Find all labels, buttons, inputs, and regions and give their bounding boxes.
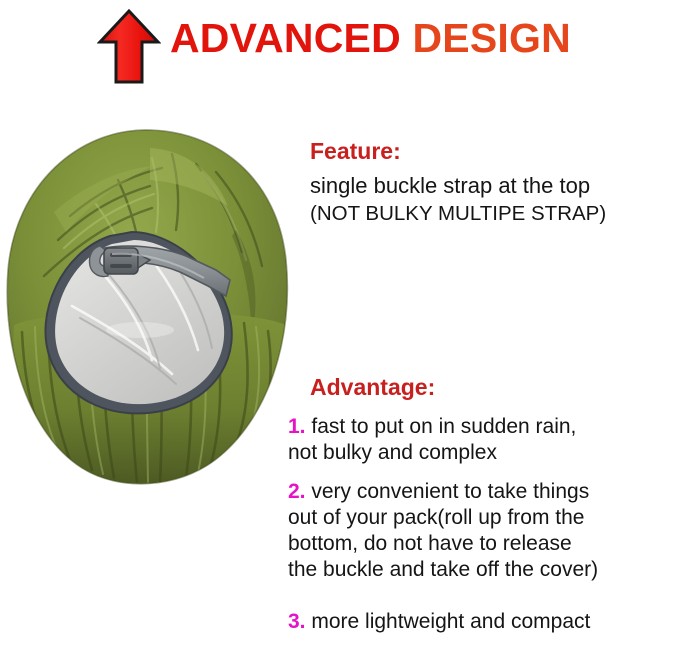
advantage-item-line: bottom, do not have to release	[288, 532, 572, 555]
up-arrow-icon	[97, 9, 161, 85]
advantage-item-line: fast to put on in sudden rain,	[311, 415, 576, 438]
advantage-item-line: out of your pack(roll up from the	[288, 506, 584, 529]
advantage-section: Advantage: 1. fast to put on in sudden r…	[288, 373, 679, 635]
page-title-part-1: ADVANCED	[170, 15, 401, 61]
advantage-list-item: 1. fast to put on in sudden rain, not bu…	[288, 414, 679, 466]
advantage-item-number: 2.	[288, 480, 306, 503]
feature-line-2: (NOT BULKY MULTIPE STRAP)	[310, 200, 679, 227]
advantage-list-item: 3. more lightweight and compact	[288, 609, 679, 635]
advantage-item-line: more lightweight and compact	[311, 610, 590, 633]
feature-heading: Feature:	[310, 137, 679, 166]
advantage-list-item: 2. very convenient to take things out of…	[288, 479, 679, 583]
page-title-part-2: DESIGN	[401, 15, 571, 61]
advantage-item-line: very convenient to take things	[311, 480, 589, 503]
feature-body: single buckle strap at the top (NOT BULK…	[310, 171, 679, 227]
product-infographic: ADVANCED DESIGN	[0, 0, 679, 645]
advantage-item-line: the buckle and take off the cover)	[288, 558, 598, 581]
advantage-item-number: 1.	[288, 415, 306, 438]
advantage-item-line: not bulky and complex	[288, 441, 497, 464]
advantage-item-number: 3.	[288, 610, 306, 633]
advantage-heading: Advantage:	[310, 373, 679, 402]
feature-line-1: single buckle strap at the top	[310, 171, 679, 200]
feature-section: Feature: single buckle strap at the top …	[310, 137, 679, 228]
header-banner: ADVANCED DESIGN	[0, 0, 679, 95]
page-title: ADVANCED DESIGN	[170, 18, 571, 59]
product-image-rain-cover	[0, 120, 300, 505]
